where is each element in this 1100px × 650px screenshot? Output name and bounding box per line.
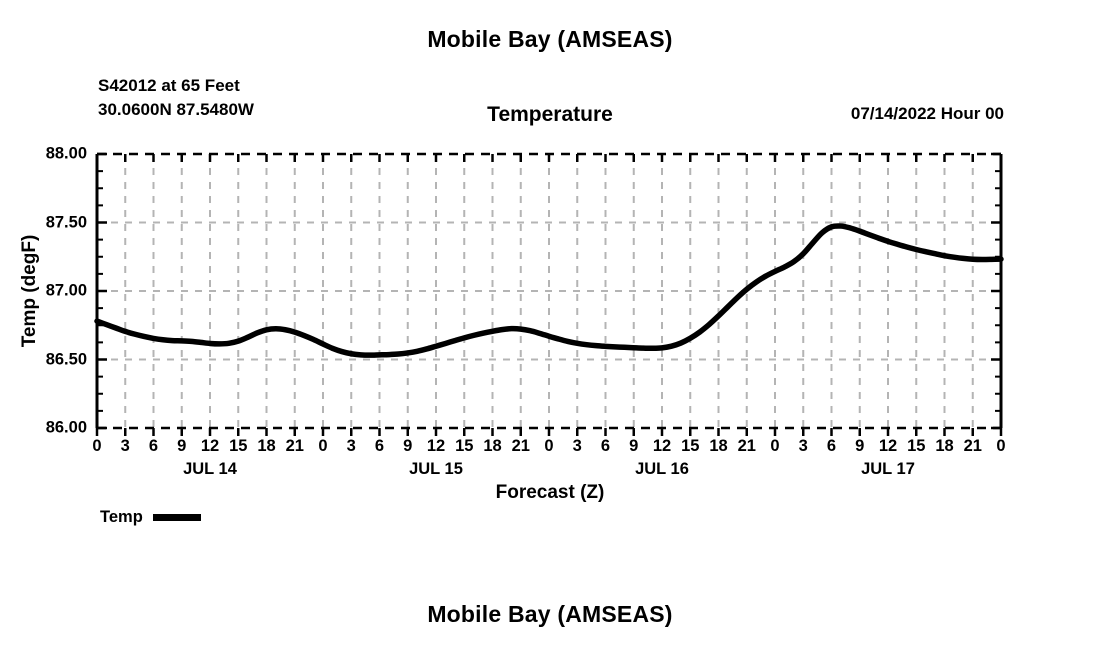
x-axis-tick-label: 0 — [544, 437, 553, 456]
x-axis-tick-label: 6 — [149, 437, 158, 456]
x-axis-tick-label: 3 — [121, 437, 130, 456]
x-axis-tick-label: 0 — [318, 437, 327, 456]
x-axis-tick-label: 0 — [996, 437, 1005, 456]
x-axis-tick-label: 15 — [681, 437, 699, 456]
x-axis-title: Forecast (Z) — [0, 482, 1100, 504]
chart-legend: Temp — [100, 508, 201, 527]
plot-area: 86.0086.5087.0087.5088.00Temp (degF)0369… — [0, 0, 1100, 650]
x-axis-tick-label: 18 — [935, 437, 953, 456]
temperature-line-chart — [0, 0, 1100, 650]
x-axis-tick-label: 6 — [601, 437, 610, 456]
x-axis-day-label: JUL 17 — [861, 460, 915, 479]
x-axis-tick-label: 21 — [738, 437, 756, 456]
x-axis-tick-label: 12 — [653, 437, 671, 456]
chart-page: Mobile Bay (AMSEAS) S42012 at 65 Feet 30… — [0, 0, 1100, 650]
x-axis-tick-label: 15 — [229, 437, 247, 456]
y-axis-tick-label: 86.00 — [7, 419, 87, 438]
page-title-bottom: Mobile Bay (AMSEAS) — [0, 601, 1100, 628]
x-axis-tick-label: 21 — [964, 437, 982, 456]
y-axis-title: Temp (degF) — [19, 206, 41, 376]
x-axis-tick-label: 3 — [573, 437, 582, 456]
x-axis-tick-label: 12 — [201, 437, 219, 456]
x-axis-tick-label: 6 — [375, 437, 384, 456]
x-axis-day-label: JUL 15 — [409, 460, 463, 479]
x-axis-tick-label: 3 — [799, 437, 808, 456]
y-axis-tick-label: 88.00 — [7, 145, 87, 164]
x-axis-tick-label: 15 — [455, 437, 473, 456]
x-axis-tick-label: 9 — [403, 437, 412, 456]
x-axis-tick-label: 18 — [483, 437, 501, 456]
x-axis-tick-label: 12 — [427, 437, 445, 456]
legend-swatch-temp — [153, 514, 201, 521]
x-axis-tick-label: 12 — [879, 437, 897, 456]
x-axis-day-label: JUL 14 — [183, 460, 237, 479]
x-axis-tick-label: 0 — [92, 437, 101, 456]
x-axis-tick-label: 9 — [629, 437, 638, 456]
x-axis-tick-label: 9 — [177, 437, 186, 456]
x-axis-tick-label: 9 — [855, 437, 864, 456]
x-axis-tick-label: 6 — [827, 437, 836, 456]
x-axis-tick-label: 21 — [286, 437, 304, 456]
legend-label-temp: Temp — [100, 508, 143, 527]
x-axis-tick-label: 15 — [907, 437, 925, 456]
x-axis-tick-label: 21 — [512, 437, 530, 456]
x-axis-tick-label: 0 — [770, 437, 779, 456]
x-axis-tick-label: 18 — [257, 437, 275, 456]
x-axis-day-label: JUL 16 — [635, 460, 689, 479]
x-axis-tick-label: 18 — [709, 437, 727, 456]
x-axis-tick-label: 3 — [347, 437, 356, 456]
